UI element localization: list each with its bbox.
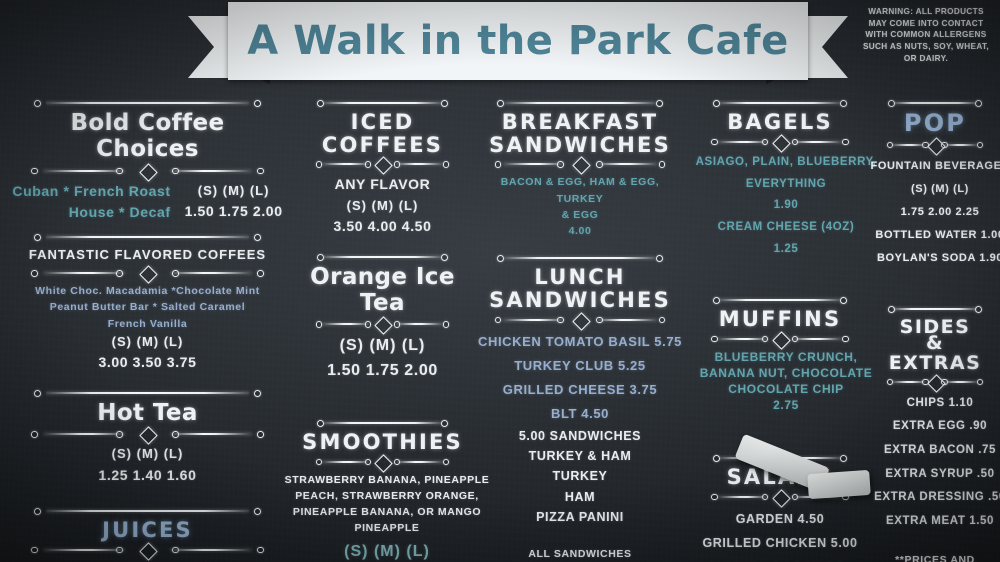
section-title-cont: SANDWICHES — [476, 289, 684, 312]
size-labels: (S) (M) (L) — [301, 196, 464, 216]
menu-item: ASIAGO, PLAIN, BLUEBERRY, — [688, 152, 884, 174]
note-line: ALL SANDWICHES — [476, 547, 684, 562]
menu-item: TURKEY & HAM — [476, 446, 684, 466]
section-iced-coffees: ICED COFFEES ANY FLAVOR (S) (M) (L) 3.50… — [295, 98, 470, 238]
size-labels: (S) (M) (L) — [870, 178, 1000, 201]
section-title: JUICES — [6, 519, 289, 542]
price-values: 1.50 1.75 2.00 — [185, 201, 283, 223]
sides-items-list: CHIPS 1.10 EXTRA EGG .90 EXTRA BACON .75… — [870, 392, 1000, 533]
section-sides-extras: SIDES & EXTRAS CHIPS 1.10 EXTRA EGG .90 … — [870, 304, 1000, 533]
section-bold-coffee: Bold Coffee Choices Cuban * French Roast… — [0, 98, 295, 224]
menu-item: ANY FLAVOR — [301, 174, 464, 196]
divider-plain — [696, 295, 864, 305]
divider-ornament — [696, 136, 864, 148]
section-title: LUNCH — [476, 266, 684, 289]
divider-ornament — [876, 139, 994, 151]
ribbon-banner: A Walk in the Park Cafe — [228, 2, 808, 80]
lunch-items-list: CHICKEN TOMATO BASIL 5.75 TURKEY CLUB 5.… — [476, 330, 684, 426]
section-title: POP — [876, 111, 994, 137]
disclaimer-line: **PRICES AND — [876, 553, 994, 562]
divider-plain — [301, 98, 464, 108]
price-disclaimer: **PRICES AND ITEMS SUBJECT TO CHANGE WIT… — [870, 553, 1000, 562]
divider-ornament — [6, 165, 289, 177]
divider-plain — [876, 98, 994, 108]
price-values: 2.75 — [688, 397, 884, 413]
size-labels: (S) (M) (L) — [185, 181, 283, 201]
bold-coffee-prices: (S) (M) (L) 1.50 1.75 2.00 — [185, 181, 283, 223]
divider-ornament — [6, 267, 289, 279]
section-pop: POP FOUNTAIN BEVERAGES (S) (M) (L) 1.75 … — [870, 98, 1000, 270]
menu-item: CHIPS 1.10 — [870, 392, 1000, 416]
menu-item: PINEAPPLE BANANA, OR MANGO — [281, 504, 493, 520]
menu-item: TURKEY — [476, 466, 684, 486]
price-values: 1.90 — [688, 195, 884, 217]
divider-ornament — [301, 158, 464, 170]
section-flavored-coffees: FANTASTIC FLAVORED COFFEES White Choc. M… — [0, 232, 295, 374]
section-breakfast-sandwiches: BREAKFAST SANDWICHES BACON & EGG, HAM & … — [470, 98, 690, 239]
menu-item: Cuban * French Roast — [12, 181, 170, 203]
price-values: 4.00 — [476, 223, 684, 239]
size-labels: (S) (M) (L) — [301, 334, 464, 359]
menu-item: BOTTLED WATER 1.00 — [870, 224, 1000, 247]
divider-plain — [696, 98, 864, 108]
title-ribbon: A Walk in the Park Cafe — [188, 2, 848, 90]
menu-item: PEACH, STRAWBERRY ORANGE, — [281, 488, 493, 504]
chalk-stick — [807, 470, 871, 499]
chalkboard-menu: A Walk in the Park Cafe WARNING: ALL PRO… — [0, 0, 1000, 562]
menu-item: French Vanilla — [6, 316, 289, 332]
section-juices: JUICES CRANBERRY OR ORANGE (S) (M) (L) 1… — [0, 506, 295, 562]
sandwich-note: ALL SANDWICHES COME TOASTED UNLESS OTHER… — [476, 547, 684, 562]
menu-item: EXTRA SYRUP .50 — [870, 463, 1000, 487]
menu-item-cont: BANANA NUT, CHOCOLATE — [688, 365, 884, 381]
divider-plain — [476, 98, 684, 108]
menu-item: GRILLED CHEESE 3.75 — [476, 378, 684, 402]
price-values: 1.75 2.00 2.25 — [870, 201, 1000, 224]
divider-ornament — [696, 333, 864, 345]
section-title: MUFFINS — [696, 308, 864, 331]
section-title: SMOOTHIES — [301, 431, 464, 454]
divider-ornament — [301, 318, 464, 330]
section-title-cont: COFFEES — [301, 134, 464, 157]
menu-item: CHICKEN BACON 5.50 — [696, 556, 864, 562]
section-title: FANTASTIC FLAVORED COFFEES — [6, 245, 289, 265]
section-title: Bold Coffee — [6, 111, 289, 137]
divider-ornament — [476, 158, 684, 170]
section-muffins: MUFFINS BLUEBERRY CRUNCH, BANANA NUT, CH… — [690, 295, 870, 413]
divider-plain — [6, 232, 289, 242]
bold-coffee-rows: Cuban * French Roast House * Decaf (S) (… — [6, 181, 289, 224]
menu-item: FOUNTAIN BEVERAGES — [870, 155, 1000, 178]
price-values: 3.00 3.50 3.75 — [6, 352, 289, 374]
divider-plain — [876, 304, 994, 314]
menu-item: TURKEY CLUB 5.25 — [476, 354, 684, 378]
five-dollar-header: 5.00 SANDWICHES — [476, 426, 684, 446]
section-title: BAGELS — [696, 111, 864, 134]
menu-item: BACON & EGG, HAM & EGG, TURKEY — [476, 174, 684, 207]
menu-item: EXTRA MEAT 1.50 — [870, 510, 1000, 534]
menu-item: EXTRA DRESSING .50 — [870, 486, 1000, 510]
menu-column-5: POP FOUNTAIN BEVERAGES (S) (M) (L) 1.75 … — [870, 98, 1000, 562]
menu-column-3: BREAKFAST SANDWICHES BACON & EGG, HAM & … — [470, 98, 690, 562]
menu-item: EXTRA EGG .90 — [870, 415, 1000, 439]
menu-item: HAM — [476, 487, 684, 507]
divider-ornament — [301, 456, 464, 468]
menu-item: GRILLED CHICKEN 5.00 — [696, 531, 864, 555]
menu-item: CHICKEN TOMATO BASIL 5.75 — [476, 330, 684, 354]
salad-items-list: GARDEN 4.50 GRILLED CHICKEN 5.00 CHICKEN… — [696, 507, 864, 562]
price-values: 1.50 1.75 2.00 — [301, 359, 464, 384]
divider-ornament — [476, 314, 684, 326]
section-smoothies: SMOOTHIES STRAWBERRY BANANA, PINEAPPLE P… — [295, 418, 470, 562]
menu-item: BLUEBERRY CRUNCH, — [688, 349, 884, 365]
menu-item-cont: EVERYTHING — [688, 174, 884, 196]
size-labels: (S) (M) (L) — [6, 444, 289, 464]
section-title: BREAKFAST — [476, 111, 684, 134]
divider-ornament — [6, 544, 289, 556]
size-labels: (S) (M) (L) — [281, 540, 493, 562]
menu-item-cont: & EGG — [476, 207, 684, 223]
divider-ornament — [6, 428, 289, 440]
price-values: 1.25 1.40 1.60 — [6, 465, 289, 487]
menu-column-1: Bold Coffee Choices Cuban * French Roast… — [0, 98, 295, 562]
menu-column-2: ICED COFFEES ANY FLAVOR (S) (M) (L) 3.50… — [295, 98, 470, 562]
section-title-cont: & EXTRAS — [876, 333, 994, 374]
section-title-cont: SANDWICHES — [476, 134, 684, 157]
allergen-warning: WARNING: ALL PRODUCTS MAY COME INTO CONT… — [860, 6, 992, 64]
menu-item: GARDEN 4.50 — [696, 507, 864, 531]
section-lunch-sandwiches: LUNCH SANDWICHES CHICKEN TOMATO BASIL 5.… — [470, 253, 690, 562]
menu-item: EXTRA BACON .75 — [870, 439, 1000, 463]
page-title: A Walk in the Park Cafe — [247, 18, 788, 64]
divider-plain — [6, 388, 289, 398]
divider-ornament — [876, 376, 994, 388]
divider-plain — [476, 253, 684, 263]
menu-item: PIZZA PANINI — [476, 507, 684, 527]
size-labels: (S) (M) (L) — [6, 332, 289, 352]
section-bagels: BAGELS ASIAGO, PLAIN, BLUEBERRY, EVERYTH… — [690, 98, 870, 261]
section-hot-tea: Hot Tea (S) (M) (L) 1.25 1.40 1.60 — [0, 388, 295, 487]
divider-plain — [301, 418, 464, 428]
menu-item: BOYLAN'S SODA 1.90 — [870, 247, 1000, 270]
menu-item: CREAM CHEESE (4OZ) — [688, 217, 884, 239]
menu-item: Peanut Butter Bar * Salted Caramel — [6, 299, 289, 315]
menu-item: PINEAPPLE — [281, 520, 493, 536]
divider-plain — [6, 506, 289, 516]
menu-item: House * Decaf — [12, 202, 170, 224]
menu-item: STRAWBERRY BANANA, PINEAPPLE — [281, 472, 493, 488]
divider-plain — [6, 98, 289, 108]
bold-coffee-items: Cuban * French Roast House * Decaf — [12, 181, 170, 224]
section-title: ICED — [301, 111, 464, 134]
price-values: 3.50 4.00 4.50 — [301, 216, 464, 238]
section-orange-ice-tea: Orange Ice Tea (S) (M) (L) 1.50 1.75 2.0… — [295, 252, 470, 384]
section-title: Hot Tea — [6, 401, 289, 427]
divider-plain — [301, 252, 464, 262]
menu-item-cont2: CHOCOLATE CHIP — [688, 381, 884, 397]
price-values: 1.25 — [688, 239, 884, 261]
menu-item: White Choc. Macadamia *Chocolate Mint — [6, 283, 289, 299]
section-title-cont: Choices — [6, 137, 289, 163]
section-title: Orange Ice — [301, 265, 464, 291]
section-title-cont: Tea — [301, 291, 464, 317]
five-dollar-group: 5.00 SANDWICHES TURKEY & HAM TURKEY HAM … — [476, 426, 684, 527]
menu-item: BLT 4.50 — [476, 402, 684, 426]
